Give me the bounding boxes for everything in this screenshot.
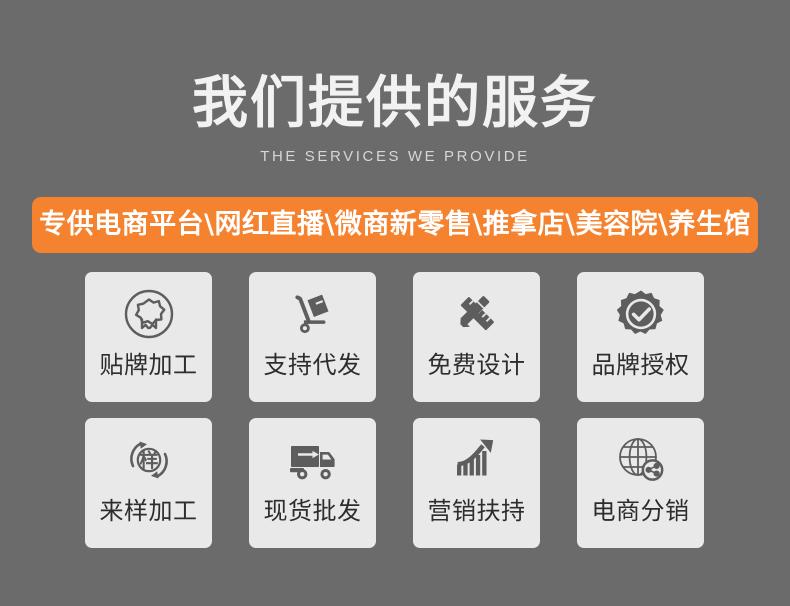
medal-badge-icon bbox=[119, 284, 179, 344]
service-card-dropship[interactable]: 支持代发 bbox=[249, 272, 376, 402]
service-card-label: 支持代发 bbox=[264, 350, 362, 380]
service-card-label: 营销扶持 bbox=[428, 496, 526, 526]
pencil-ruler-icon bbox=[447, 284, 507, 344]
service-card-grid: 贴牌加工 支持代发 bbox=[85, 272, 705, 548]
service-card-brand-authorization[interactable]: 品牌授权 bbox=[577, 272, 704, 402]
services-banner-text: 专供电商平台\网红直播\微商新零售\推拿店\美容院\养生馆 bbox=[39, 210, 751, 240]
page-header: 我们提供的服务 THE SERVICES WE PROVIDE bbox=[0, 72, 790, 166]
service-card-free-design[interactable]: 免费设计 bbox=[413, 272, 540, 402]
service-card-sample-processing[interactable]: 样 来样加工 bbox=[85, 418, 212, 548]
service-card-label: 贴牌加工 bbox=[100, 350, 198, 380]
service-card-wholesale[interactable]: 现货批发 bbox=[249, 418, 376, 548]
service-card-ecommerce-distribution[interactable]: 电商分销 bbox=[577, 418, 704, 548]
page-subtitle: THE SERVICES WE PROVIDE bbox=[0, 148, 790, 166]
service-card-label: 品牌授权 bbox=[592, 350, 690, 380]
hand-truck-box-icon bbox=[283, 284, 343, 344]
delivery-truck-icon bbox=[283, 430, 343, 490]
services-page: 我们提供的服务 THE SERVICES WE PROVIDE 专供电商平台\网… bbox=[0, 0, 790, 606]
service-card-label: 免费设计 bbox=[428, 350, 526, 380]
service-card-label: 电商分销 bbox=[592, 496, 690, 526]
service-card-label: 现货批发 bbox=[264, 496, 362, 526]
svg-text:样: 样 bbox=[139, 449, 158, 472]
service-card-label: 来样加工 bbox=[100, 496, 198, 526]
services-banner: 专供电商平台\网红直播\微商新零售\推拿店\美容院\养生馆 bbox=[32, 197, 758, 253]
certified-check-badge-icon bbox=[611, 284, 671, 344]
service-card-marketing-support[interactable]: 营销扶持 bbox=[413, 418, 540, 548]
page-title: 我们提供的服务 bbox=[0, 72, 790, 136]
growth-chart-arrow-icon bbox=[447, 430, 507, 490]
service-card-oem[interactable]: 贴牌加工 bbox=[85, 272, 212, 402]
globe-share-icon bbox=[611, 430, 671, 490]
sample-refresh-cycle-icon: 样 bbox=[119, 430, 179, 490]
